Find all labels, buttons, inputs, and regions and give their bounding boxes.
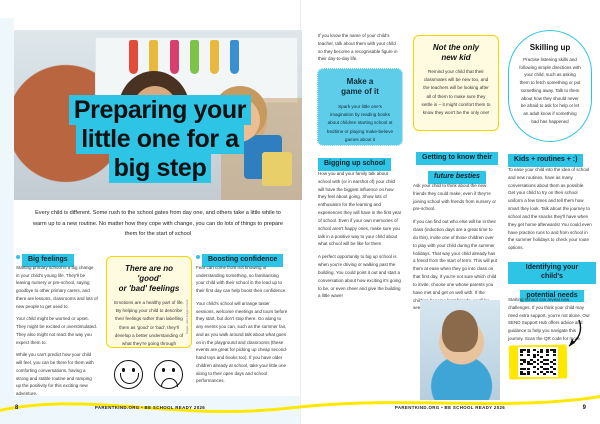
- paragraph: Your child's school will arrange taster …: [196, 300, 288, 385]
- qr-pattern: [520, 349, 556, 375]
- callout-body: Remind your child that their classmates …: [421, 68, 491, 117]
- callout-title: Skilling up: [519, 43, 581, 52]
- eye: [132, 368, 135, 372]
- headline-line-1: Preparing your: [69, 95, 251, 125]
- eye: [162, 368, 165, 372]
- paragraph: Ask your child to think about the new fr…: [413, 182, 497, 213]
- right-column-3: To ease your child into the idea of scho…: [508, 166, 592, 257]
- photo-credit: Images: Getty Images / iStock: [186, 270, 190, 334]
- paragraph: If you can find out who else will be in …: [413, 218, 497, 312]
- heading-kids-routines: Kids + routines + :): [508, 148, 583, 167]
- eye: [122, 368, 125, 372]
- decor-sock: [129, 40, 138, 74]
- magazine-spread: Preparing your little one for a big step…: [0, 0, 600, 424]
- headline-line-3: big step: [109, 153, 212, 183]
- happy-face-icon: [114, 360, 143, 389]
- intro-standfirst: Every child is different. Some rush to t…: [30, 208, 286, 240]
- left-column-3: Fear can come from not knowing or unders…: [196, 264, 288, 390]
- decor-sock: [210, 40, 219, 74]
- heading-bigging-up-school: Bigging up school: [318, 152, 391, 171]
- callout-title: Not the only new kid: [421, 43, 491, 63]
- curved-arrow-icon: [557, 318, 585, 350]
- right-column-1: How you and your family talk about schoo…: [318, 170, 402, 305]
- callout-not-the-only-new-kid: Not the only new kid Remind your child t…: [413, 35, 499, 131]
- smile-mouth: [120, 373, 139, 384]
- callout-title: There are no 'good' or 'bad' feelings: [114, 264, 184, 294]
- heading-future-besties: Getting to know their future besties: [413, 146, 501, 184]
- footer-separator: •: [441, 405, 443, 410]
- decor-sock: [190, 40, 199, 74]
- callout-title-line-2: new kid: [441, 53, 470, 62]
- headline-line-2: little one for a: [76, 124, 244, 154]
- page-title: Preparing your little one for a big step: [22, 96, 298, 183]
- decor-sock: [230, 40, 239, 74]
- paragraph: How you and your family talk about schoo…: [318, 170, 402, 248]
- paragraph: If you know the name of your child's tea…: [318, 32, 400, 63]
- callout-title-line-1: There are no 'good': [125, 264, 173, 283]
- callout-no-good-or-bad-feelings: There are no 'good' or 'bad' feelings Em…: [106, 256, 192, 348]
- footer-separator: •: [141, 405, 143, 410]
- bullet-dot-icon: [16, 255, 20, 259]
- callout-title-line-2: game of it: [341, 87, 379, 96]
- callout-body: Spark your little one's imagination by r…: [326, 103, 394, 144]
- emoji-faces-group: [110, 358, 190, 392]
- footer-left: PARENTKIND.ORG • BE SCHOOL READY 2026: [60, 405, 240, 410]
- footer-issue: BE SCHOOL READY 2026: [145, 405, 206, 410]
- decor-sock: [170, 40, 179, 74]
- paragraph: To ease your child into the idea of scho…: [508, 166, 592, 252]
- footer-publication: PARENTKIND.ORG: [395, 405, 440, 410]
- paragraph: Fear can come from not knowing or unders…: [196, 264, 288, 295]
- frown-mouth: [161, 378, 178, 387]
- paragraph: A perfect opportunity to big up school i…: [318, 253, 402, 300]
- footer-publication: PARENTKIND.ORG: [95, 405, 140, 410]
- footer-issue: BE SCHOOL READY 2026: [445, 405, 506, 410]
- callout-title: Make a game of it: [326, 77, 394, 98]
- left-column-1: Starting primary school is a big change …: [16, 264, 98, 403]
- right-lead-text: If you know the name of your child's tea…: [318, 32, 400, 68]
- callout-make-a-game-of-it: Make a game of it Spark your little one'…: [317, 68, 403, 146]
- sad-face-icon: [154, 360, 183, 389]
- callout-body: Emotions are a healthy part of life. By …: [114, 299, 184, 348]
- paragraph: Your child might be worried or upset. Th…: [16, 315, 98, 346]
- decor-sock: [149, 40, 158, 74]
- callout-skilling-up: Skilling up Practise listening skills an…: [508, 30, 592, 142]
- callout-title-line-2: or 'bad' feelings: [119, 284, 180, 293]
- page-number-left: 8: [15, 405, 18, 411]
- bullet-dot-icon: [196, 255, 200, 259]
- paragraph: Starting primary school is a big change …: [16, 264, 98, 310]
- right-column-2: Ask your child to think about the new fr…: [413, 182, 497, 317]
- callout-title-line-1: Make a: [347, 77, 374, 86]
- footer-right: PARENTKIND.ORG • BE SCHOOL READY 2026: [360, 405, 540, 410]
- callout-body: Practise listening skills and following …: [519, 56, 581, 126]
- qr-code[interactable]: [518, 347, 558, 377]
- callout-title-line-1: Not the only: [433, 43, 479, 52]
- eye: [172, 368, 175, 372]
- secondary-photo: [420, 300, 500, 400]
- page-number-right: 9: [583, 405, 586, 411]
- photo-child-hair: [442, 310, 477, 352]
